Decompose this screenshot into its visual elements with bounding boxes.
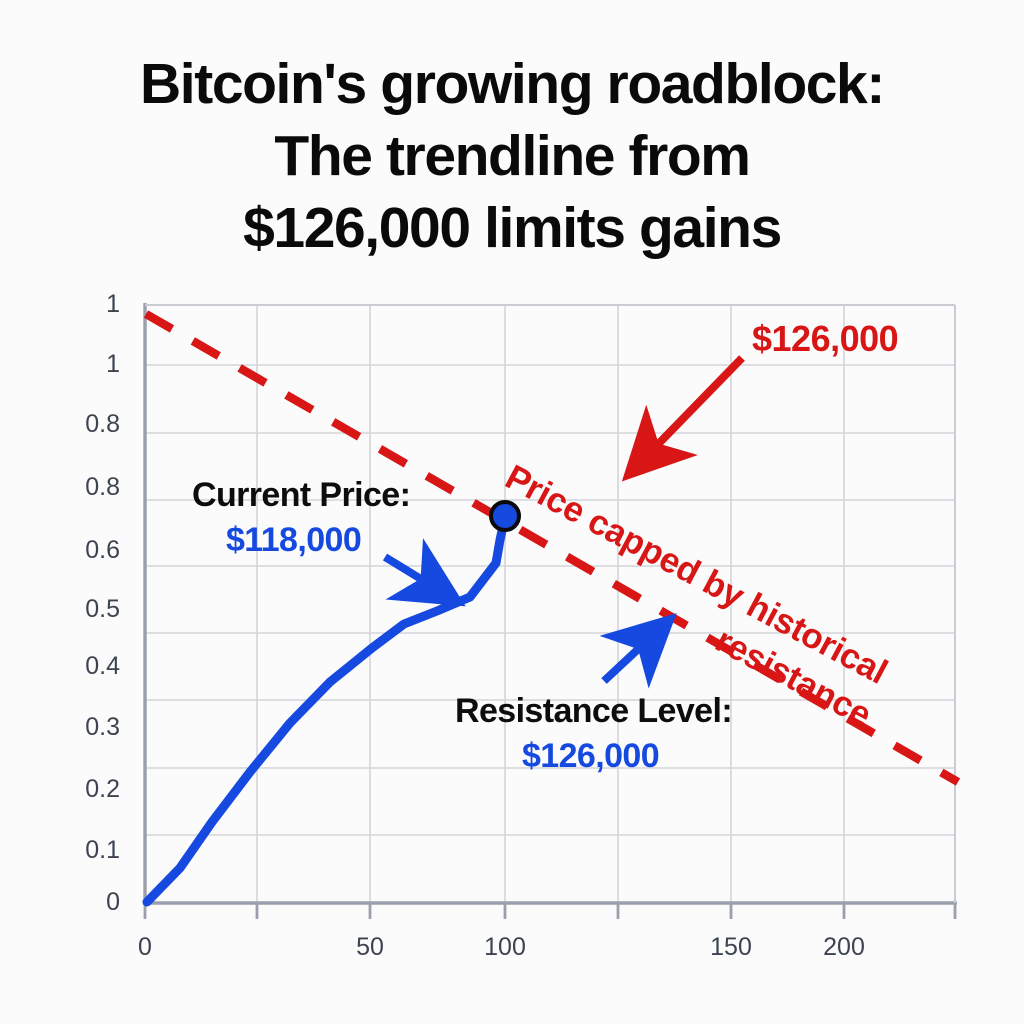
current-price-label-value: $118,000 [226,521,361,560]
y-tick-label: 0.5 [30,595,120,624]
plot-area [0,0,1024,1024]
resistance-callout-arrow [633,358,742,470]
x-tick-marks [145,903,955,919]
y-tick-label: 0.8 [30,473,120,502]
current-price-marker[interactable] [491,502,519,530]
price-series-line [147,517,505,902]
x-tick-label: 100 [465,933,545,962]
y-tick-label: 1 [30,290,120,319]
y-tick-label: 0.1 [30,836,120,865]
y-tick-label: 0 [30,888,120,917]
x-tick-label: 150 [691,933,771,962]
y-tick-label: 0.8 [30,410,120,439]
current-price-arrow [385,557,452,598]
y-tick-label: 0.6 [30,536,120,565]
current-price-label-head: Current Price: [192,476,410,515]
resistance-level-label-value: $126,000 [522,737,659,776]
chart-canvas: Bitcoin's growing roadblock: The trendli… [0,0,1024,1024]
resistance-level-label-head: Resistance Level: [455,692,732,731]
y-tick-label: 0.2 [30,775,120,804]
x-tick-label: 0 [105,933,185,962]
x-tick-label: 50 [330,933,410,962]
resistance-callout-label: $126,000 [752,318,898,360]
x-tick-label: 200 [804,933,884,962]
y-tick-label: 0.4 [30,652,120,681]
y-tick-label: 0.3 [30,713,120,742]
y-tick-label: 1 [30,350,120,379]
